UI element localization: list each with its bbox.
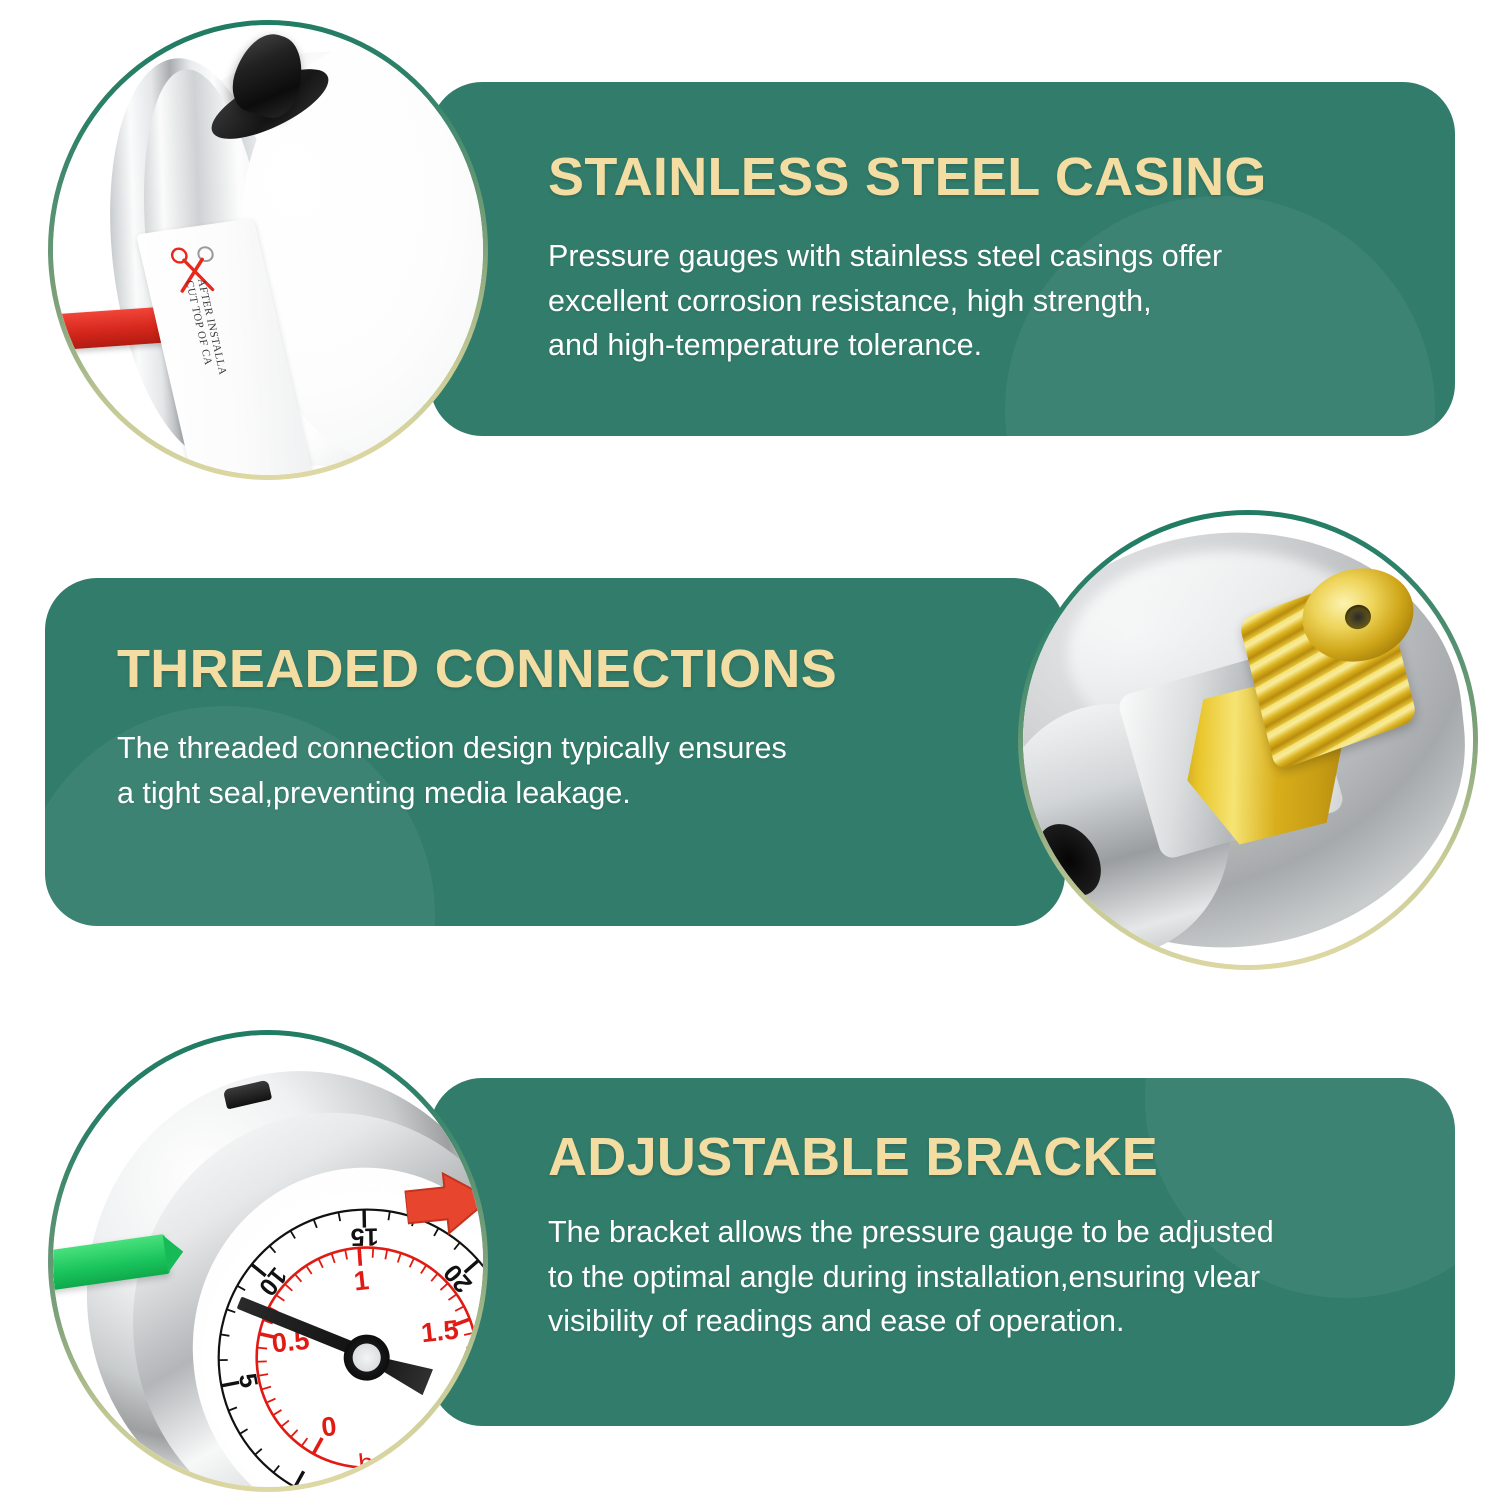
gauge-unit-labels: bar 100kPa [335,1445,425,1487]
feature-desc-line: The threaded connection design typically… [117,726,837,771]
svg-text:1: 1 [353,1265,371,1296]
photo-frame: 5101520 00.511.5 bar 100kPa [53,1035,483,1487]
feature-title-adjustable-bracke: ADJUSTABLE BRACKE [548,1130,1274,1184]
infographic-canvas: STAINLESS STEEL CASING Pressure gauges w… [0,0,1500,1500]
svg-text:5: 5 [234,1371,264,1390]
svg-text:15: 15 [351,1222,379,1250]
feature-card-body: STAINLESS STEEL CASING Pressure gauges w… [548,150,1267,368]
svg-text:0: 0 [321,1411,339,1442]
product-photo-adjustable-bracket: 5101520 00.511.5 bar 100kPa [48,1030,488,1492]
feature-title-threaded-connections: THREADED CONNECTIONS [117,642,837,696]
feature-desc-line: to the optimal angle during installation… [548,1255,1274,1300]
gauge-bezel: 5101520 00.511.5 bar 100kPa [112,1093,483,1487]
feature-description-threaded-connections: The threaded connection design typically… [117,726,837,815]
feature-desc-line: excellent corrosion resistance, high str… [548,279,1267,324]
feature-description-stainless-steel-casing: Pressure gauges with stainless steel cas… [548,234,1267,368]
instruction-label-text: AFTER INSTALLA CUT TOP OF CA [183,278,236,408]
feature-desc-line: visibility of readings and ease of opera… [548,1299,1274,1344]
feature-desc-line: Pressure gauges with stainless steel cas… [548,234,1267,279]
feature-card-body: ADJUSTABLE BRACKE The bracket allows the… [548,1130,1274,1344]
svg-text:1.5: 1.5 [420,1314,460,1348]
feature-description-adjustable-bracke: The bracket allows the pressure gauge to… [548,1210,1274,1344]
photo-frame: AFTER INSTALLA CUT TOP OF CA [53,25,483,475]
feature-desc-line: The bracket allows the pressure gauge to… [548,1210,1274,1255]
product-photo-threaded-connection [1018,510,1478,970]
red-pointer-arrow [402,1166,483,1239]
feature-card-adjustable-bracke: ADJUSTABLE BRACKE The bracket allows the… [430,1078,1455,1426]
gauge-vent-stud [223,1080,272,1110]
svg-text:10: 10 [254,1261,293,1300]
feature-card-stainless-steel-casing: STAINLESS STEEL CASING Pressure gauges w… [430,82,1455,436]
feature-card-threaded-connections: THREADED CONNECTIONS The threaded connec… [45,578,1065,926]
photo-frame [1023,515,1473,965]
feature-title-stainless-steel-casing: STAINLESS STEEL CASING [548,150,1267,204]
feature-desc-line: a tight seal,preventing media leakage. [117,771,837,816]
product-photo-stainless-steel-casing: AFTER INSTALLA CUT TOP OF CA [48,20,488,480]
feature-desc-line: and high-temperature tolerance. [548,323,1267,368]
feature-card-body: THREADED CONNECTIONS The threaded connec… [117,642,837,815]
